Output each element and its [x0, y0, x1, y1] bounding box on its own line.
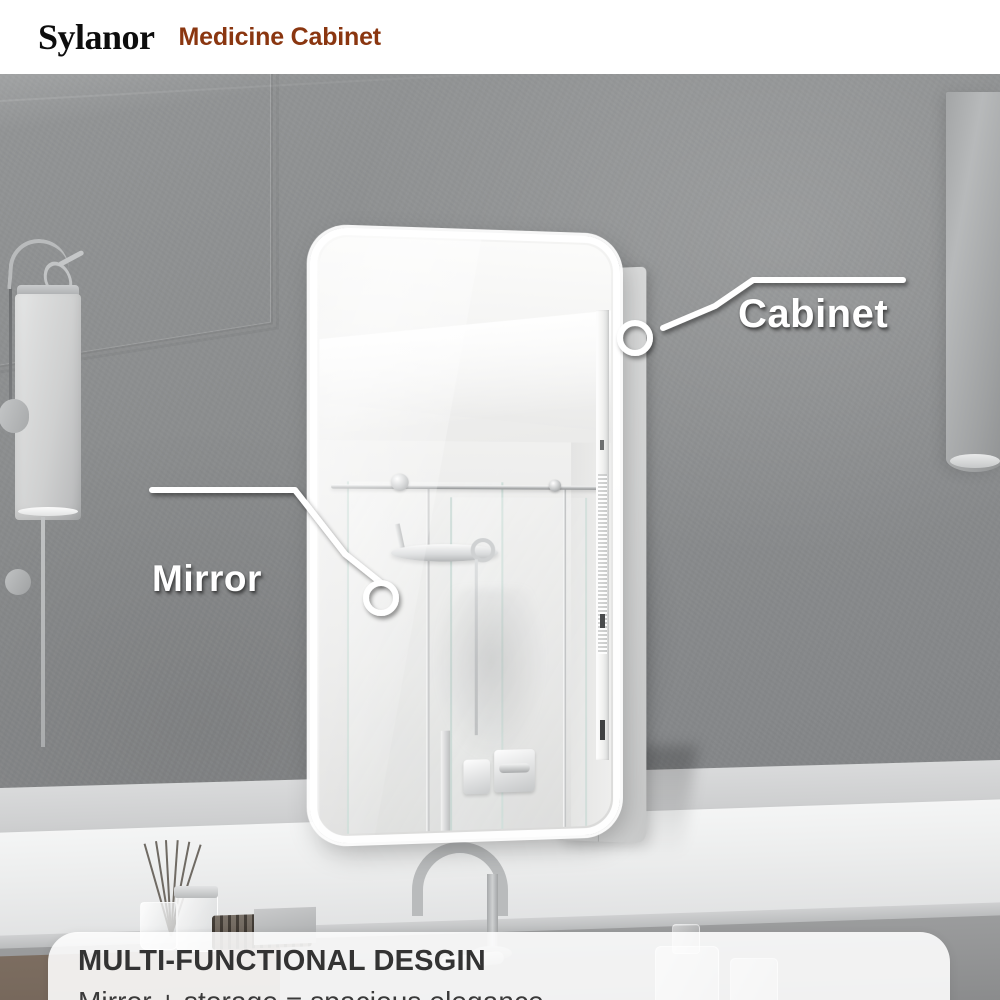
reflected-slide-bar — [441, 730, 450, 831]
callout-label-mirror: Mirror — [152, 560, 262, 597]
product-infographic: Sylanor Medicine Cabinet — [0, 0, 1000, 1000]
brand-name: Sylanor — [38, 19, 155, 55]
right-pillar — [946, 92, 1000, 472]
product-photo: ❉ — [0, 74, 1000, 1000]
reflected-corner-post — [563, 489, 566, 827]
cabinet-hinge-top — [600, 440, 604, 450]
mirror-glass — [319, 236, 611, 834]
cabinet-hinge-mid — [600, 614, 605, 628]
storage-jar-lid — [174, 886, 218, 898]
shower-rod — [41, 517, 45, 747]
caption-subtitle: Mirror + storage = spacious elegance. — [78, 985, 950, 1000]
sconce-cord — [9, 267, 12, 417]
caption-title: MULTI-FUNCTIONAL DESGIN — [78, 946, 950, 978]
cabinet-mirror-door — [310, 227, 620, 845]
reflected-door-post — [427, 488, 430, 831]
rod-fitting — [5, 569, 31, 595]
product-category-label: Medicine Cabinet — [179, 25, 381, 50]
reflected-thermostatic-valve — [494, 749, 535, 793]
sconce-wall-plate — [0, 399, 29, 433]
wall-sconce — [5, 239, 95, 579]
header-bar: Sylanor Medicine Cabinet — [0, 0, 1000, 74]
reflected-valve-handle — [463, 759, 490, 794]
cabinet-hinge-bottom — [600, 720, 605, 740]
callout-label-cabinet: Cabinet — [738, 294, 888, 334]
feature-caption-panel: MULTI-FUNCTIONAL DESGIN Mirror + storage… — [48, 932, 950, 1000]
door-left-edge — [310, 227, 320, 845]
reflected-rail-roller-2 — [548, 479, 560, 491]
